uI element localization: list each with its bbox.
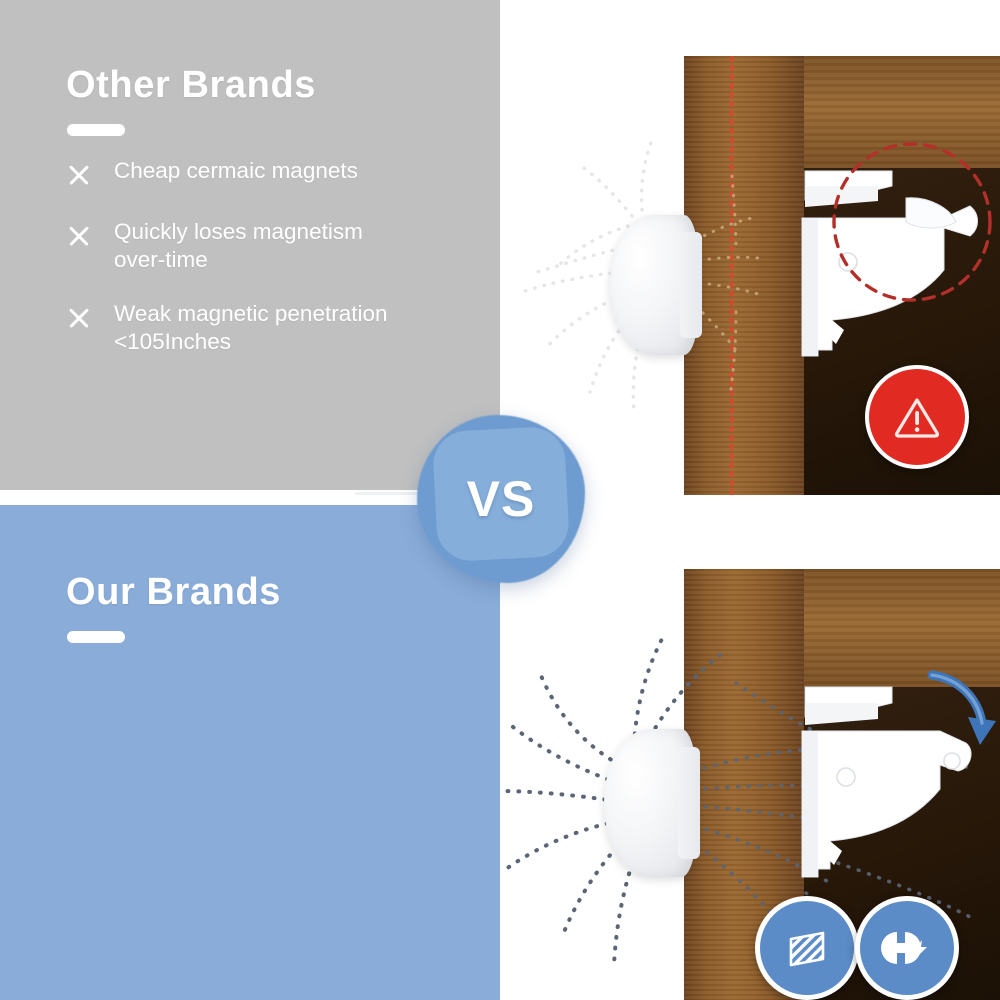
other-brands-title: Other Brands <box>66 66 316 104</box>
warning-triangle-icon <box>888 388 946 446</box>
list-item-label: Cheap cermaic magnets <box>114 157 358 185</box>
vs-badge: VS <box>417 415 585 583</box>
horseshoe-magnet-bolt-icon <box>877 918 937 978</box>
vs-badge-label: VS <box>417 415 585 583</box>
warning-badge <box>865 365 969 469</box>
list-item: Quickly loses magnetism over-time <box>66 218 486 274</box>
other-brands-title-rule <box>67 124 125 136</box>
other-brands-bullet-list: Cheap cermaic magnets Quickly loses magn… <box>66 157 486 382</box>
our-brands-title: Our Brands <box>66 573 281 611</box>
list-item: Cheap cermaic magnets <box>66 157 486 192</box>
x-icon <box>66 219 114 253</box>
list-item-label: Weak magnetic penetration <105Inches <box>114 300 388 356</box>
list-item: Weak magnetic penetration <105Inches <box>66 300 486 356</box>
our-brands-title-rule <box>67 631 125 643</box>
magnet-badge <box>855 896 959 1000</box>
comparison-infographic: Other Brands Cheap cermaic magnets Quick… <box>0 0 1000 1000</box>
our-brands-demo-photo <box>500 533 1000 1000</box>
material-badge <box>755 896 859 1000</box>
hatched-panel-icon <box>778 919 836 977</box>
x-icon <box>66 158 114 192</box>
x-icon <box>66 301 114 335</box>
list-item-label: Quickly loses magnetism over-time <box>114 218 363 274</box>
